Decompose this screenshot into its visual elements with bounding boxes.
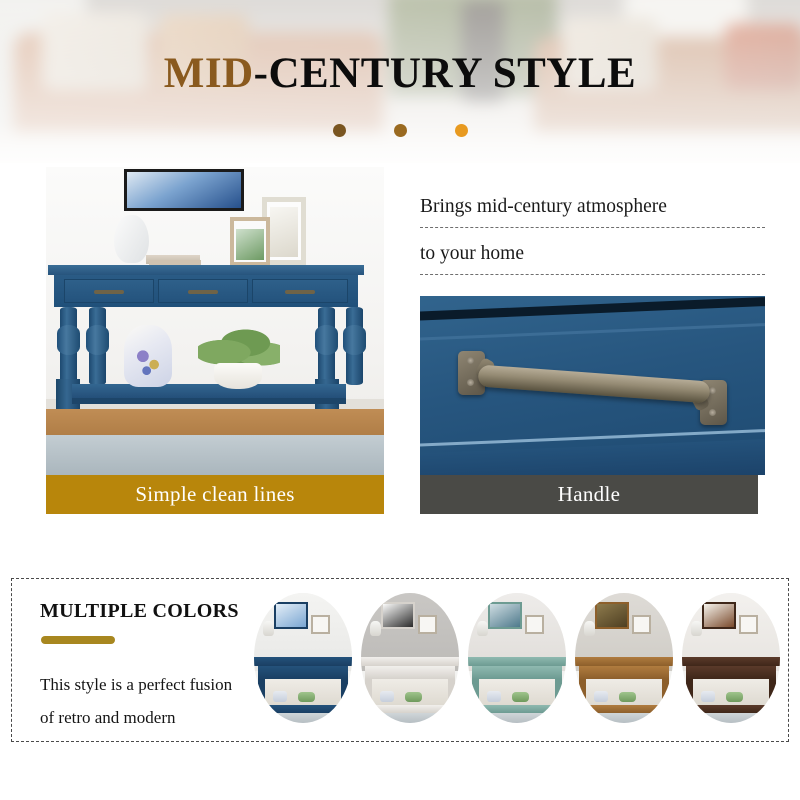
page-title-accent: MID <box>164 50 254 97</box>
decorative-dots <box>0 121 800 139</box>
swatch-wall-art <box>274 602 308 629</box>
handle-closeup-scene <box>420 296 765 475</box>
color-swatch-navy-blue[interactable] <box>254 593 352 723</box>
right-feature-caption: Handle <box>420 475 758 514</box>
swatch-frame-icon <box>632 615 651 634</box>
colors-body-line-1: This style is a perfect fusion <box>40 668 270 701</box>
swatch-decor-jar <box>380 691 394 702</box>
color-swatch-light-oak[interactable] <box>575 593 673 723</box>
swatch-vase <box>477 621 488 636</box>
wall-art <box>124 169 244 211</box>
swatch-decor-plant <box>726 692 743 702</box>
color-swatch-list <box>254 593 782 729</box>
swatch-decor-jar <box>594 691 608 702</box>
swatch-apron <box>365 666 455 679</box>
swatch-decor-jar <box>273 691 287 702</box>
multiple-colors-panel: MULTIPLE COLORS This style is a perfect … <box>11 578 789 742</box>
swatch-apron <box>579 666 669 679</box>
swatch-shelf <box>579 705 669 713</box>
dot-2-icon <box>394 124 407 137</box>
console-table-scene <box>46 167 384 475</box>
swatch-wall-art <box>702 602 736 629</box>
color-swatch-white[interactable] <box>361 593 459 723</box>
swatch-tabletop <box>575 657 673 666</box>
swatch-tabletop <box>254 657 352 666</box>
swatch-tabletop <box>682 657 780 666</box>
glass-vase <box>114 215 149 263</box>
ceramic-jar <box>124 325 172 387</box>
swatch-apron <box>686 666 776 679</box>
swatch-decor-jar <box>487 691 501 702</box>
swatch-tabletop <box>468 657 566 666</box>
swatch-floor <box>254 713 352 723</box>
swatch-decor-plant <box>298 692 315 702</box>
drawer-handle-bar <box>478 365 711 404</box>
color-swatch-mint-green[interactable] <box>468 593 566 723</box>
colors-panel-title: MULTIPLE COLORS <box>40 600 239 623</box>
page-title: MID-CENTURY STYLE <box>0 52 800 95</box>
right-feature-photo: Handle <box>420 296 765 514</box>
swatch-vase <box>263 621 274 636</box>
swatch-wall-art <box>595 602 629 629</box>
headline-line-2: to your home <box>420 243 765 275</box>
swatch-apron <box>472 666 562 679</box>
left-feature-caption: Simple clean lines <box>46 475 384 514</box>
swatch-shelf <box>472 705 562 713</box>
swatch-frame-icon <box>739 615 758 634</box>
page-title-main: -CENTURY STYLE <box>254 50 637 97</box>
swatch-shelf <box>258 705 348 713</box>
swatch-frame-icon <box>311 615 330 634</box>
swatch-wall-art <box>488 602 522 629</box>
swatch-vase <box>370 621 381 636</box>
swatch-shelf <box>686 705 776 713</box>
swatch-frame-icon <box>525 615 544 634</box>
headline-line-1: Brings mid-century atmosphere <box>420 196 765 228</box>
swatch-decor-plant <box>405 692 422 702</box>
swatch-vase <box>691 621 702 636</box>
swatch-floor <box>468 713 566 723</box>
dot-3-icon <box>455 124 468 137</box>
colors-panel-rule <box>41 636 115 644</box>
colors-body-line-2: of retro and modern <box>40 701 270 734</box>
swatch-vase <box>584 621 595 636</box>
swatch-decor-plant <box>619 692 636 702</box>
swatch-floor <box>575 713 673 723</box>
colors-panel-body: This style is a perfect fusion of retro … <box>40 668 270 734</box>
hero-banner: MID-CENTURY STYLE <box>0 0 800 163</box>
swatch-shelf <box>365 705 455 713</box>
dot-1-icon <box>333 124 346 137</box>
swatch-decor-plant <box>512 692 529 702</box>
left-feature-photo: Simple clean lines <box>46 167 384 514</box>
swatch-wall-art <box>381 602 415 629</box>
swatch-tabletop <box>361 657 459 666</box>
swatch-floor <box>682 713 780 723</box>
swatch-floor <box>361 713 459 723</box>
swatch-apron <box>258 666 348 679</box>
swatch-decor-jar <box>701 691 715 702</box>
color-swatch-espresso[interactable] <box>682 593 780 723</box>
swatch-frame-icon <box>418 615 437 634</box>
